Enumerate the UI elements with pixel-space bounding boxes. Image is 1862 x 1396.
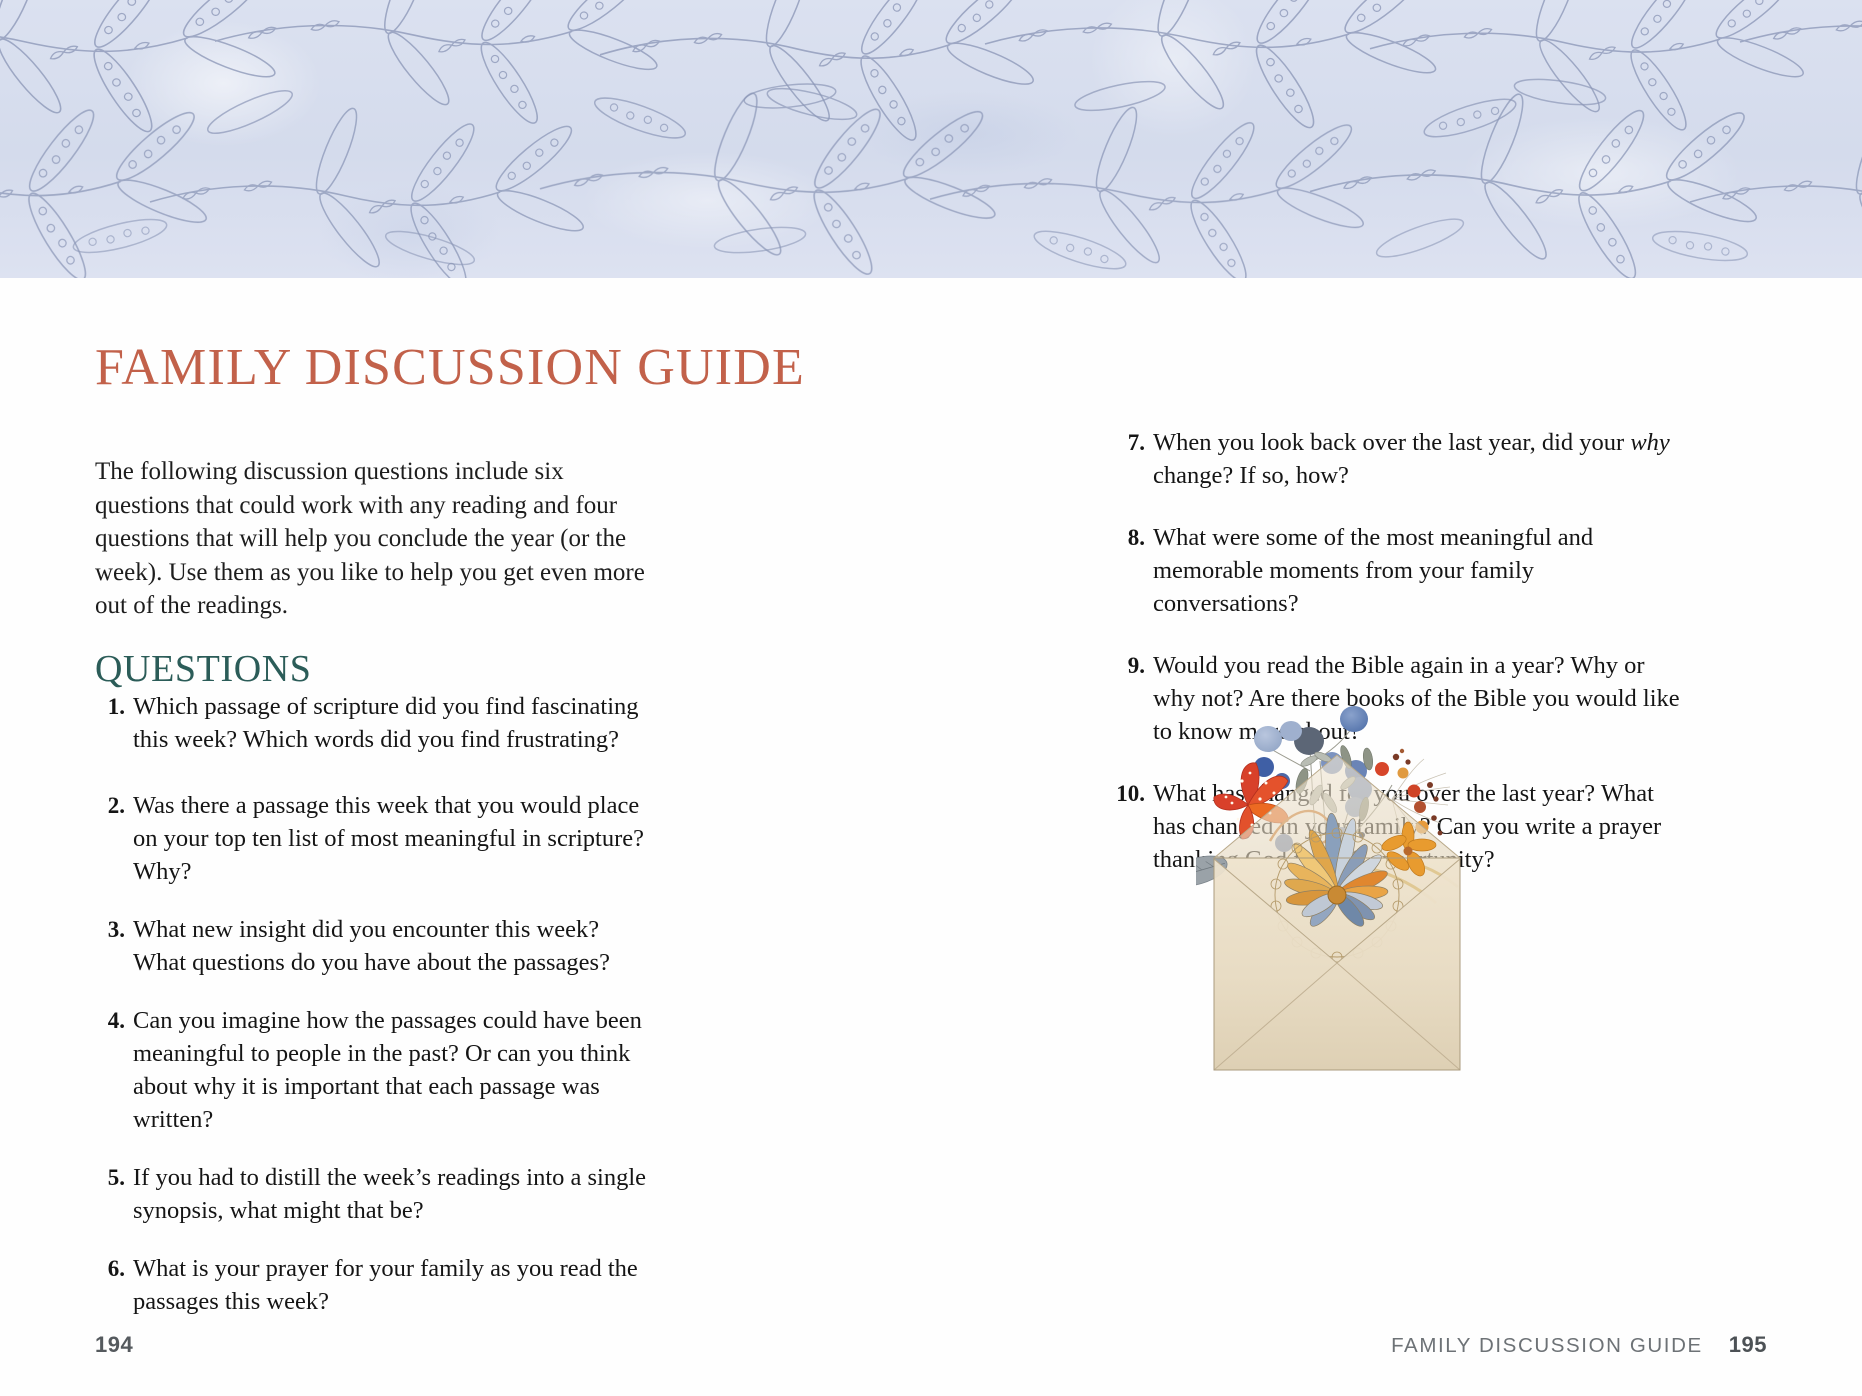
list-item: 8. What were some of the most meaningful… (1111, 521, 1681, 620)
question-text: What is your prayer for your family as y… (133, 1252, 655, 1318)
question-number: 5. (95, 1161, 125, 1194)
question-number: 4. (95, 1004, 125, 1037)
page-number-right: 195 (1729, 1332, 1767, 1358)
emphasis-word: why (1630, 429, 1669, 456)
right-page: 7. When you look back over the last year… (931, 278, 1862, 1396)
running-head: FAMILY DISCUSSION GUIDE (1391, 1334, 1703, 1358)
question-number: 7. (1111, 426, 1145, 459)
question-number: 8. (1111, 521, 1145, 554)
list-item: 3. What new insight did you encounter th… (95, 913, 655, 979)
question-number: 1. (95, 690, 125, 723)
list-item: 4. Can you imagine how the passages coul… (95, 1004, 655, 1136)
list-item: 1. Which passage of scripture did you fi… (95, 690, 655, 756)
left-page: FAMILY DISCUSSION GUIDE The following di… (0, 278, 931, 1396)
list-item: 7. When you look back over the last year… (1111, 426, 1681, 492)
intro-paragraph: The following discussion questions inclu… (95, 455, 647, 623)
question-text: Was there a passage this week that you w… (133, 789, 655, 888)
question-text: If you had to distill the week’s reading… (133, 1161, 655, 1227)
question-number: 10. (1111, 777, 1145, 810)
botanical-vine-pattern-icon (0, 0, 1862, 278)
question-number: 3. (95, 913, 125, 946)
page-content: FAMILY DISCUSSION GUIDE The following di… (0, 278, 1862, 1396)
question-text: Can you imagine how the passages could h… (133, 1004, 655, 1136)
question-text: Which passage of scripture did you find … (133, 690, 655, 756)
decorative-header-band (0, 0, 1862, 278)
page-number-left: 194 (95, 1332, 133, 1358)
questions-section-heading: QUESTIONS (95, 647, 312, 691)
question-text: What were some of the most meaningful an… (1153, 521, 1681, 620)
question-number: 9. (1111, 649, 1145, 682)
questions-list-left: 1. Which passage of scripture did you fi… (95, 690, 655, 1343)
page-title: FAMILY DISCUSSION GUIDE (95, 338, 805, 397)
question-text: What new insight did you encounter this … (133, 913, 655, 979)
question-number: 2. (95, 789, 125, 822)
book-page-spread: FAMILY DISCUSSION GUIDE The following di… (0, 0, 1862, 1396)
list-item: 2. Was there a passage this week that yo… (95, 789, 655, 888)
page-footer-right: FAMILY DISCUSSION GUIDE 195 (1391, 1332, 1767, 1358)
question-text: When you look back over the last year, d… (1153, 426, 1681, 492)
list-item: 6. What is your prayer for your family a… (95, 1252, 655, 1318)
list-item: 5. If you had to distill the week’s read… (95, 1161, 655, 1227)
open-envelope-with-flowers-illustration (1196, 663, 1506, 1083)
question-number: 6. (95, 1252, 125, 1285)
